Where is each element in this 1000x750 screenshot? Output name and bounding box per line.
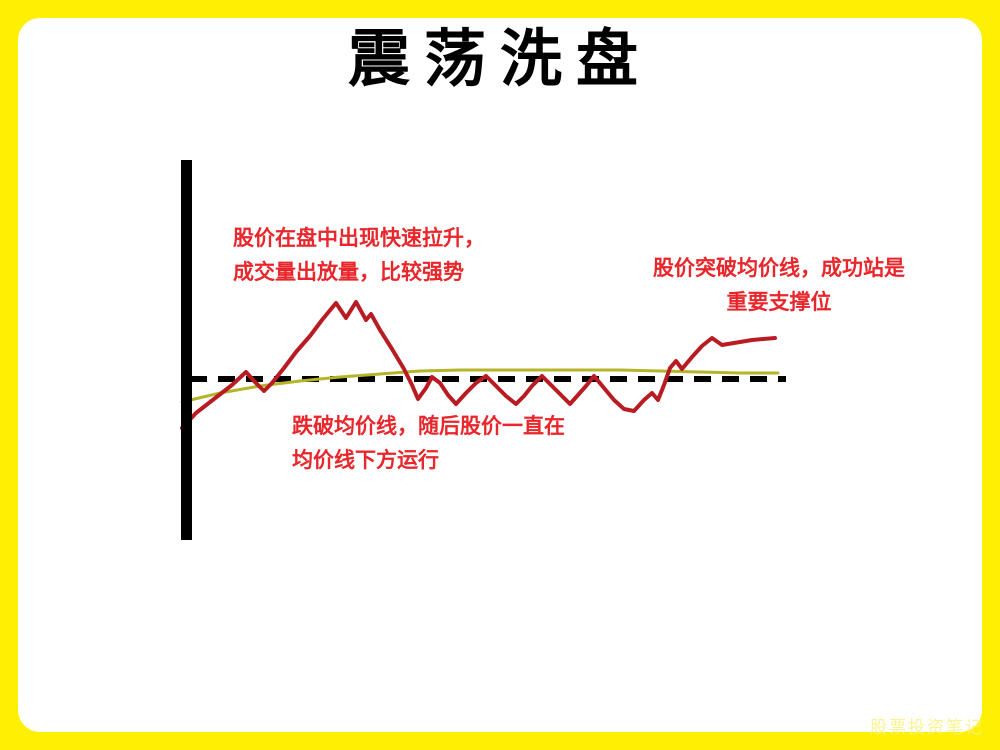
annotation-breakout-line-1: 股价突破均价线，成功站是 — [634, 252, 924, 286]
y-axis-bar — [181, 160, 192, 540]
watermark: 股票投资笔记 — [870, 713, 984, 738]
annotation-rally: 股价在盘中出现快速拉升， 成交量出放量，比较强势 — [233, 222, 485, 290]
annotation-breakout: 股价突破均价线，成功站是 重要支撑位 — [634, 252, 924, 320]
chart-svg — [0, 0, 1000, 750]
annotation-below-ma-line-1: 跌破均价线，随后股价一直在 — [292, 410, 565, 444]
annotation-breakout-line-2: 重要支撑位 — [634, 286, 924, 320]
intraday-chart — [0, 0, 1000, 750]
slide-root: 震荡洗盘 股价在盘中出现快速拉升， 成交量出放量，比较强势 股价突破均价线，成功… — [0, 0, 1000, 750]
annotation-rally-line-1: 股价在盘中出现快速拉升， — [233, 222, 485, 256]
y-axis-group — [181, 160, 192, 540]
annotation-below-ma: 跌破均价线，随后股价一直在 均价线下方运行 — [292, 410, 565, 478]
annotation-rally-line-2: 成交量出放量，比较强势 — [233, 256, 485, 290]
annotation-below-ma-line-2: 均价线下方运行 — [292, 444, 565, 478]
